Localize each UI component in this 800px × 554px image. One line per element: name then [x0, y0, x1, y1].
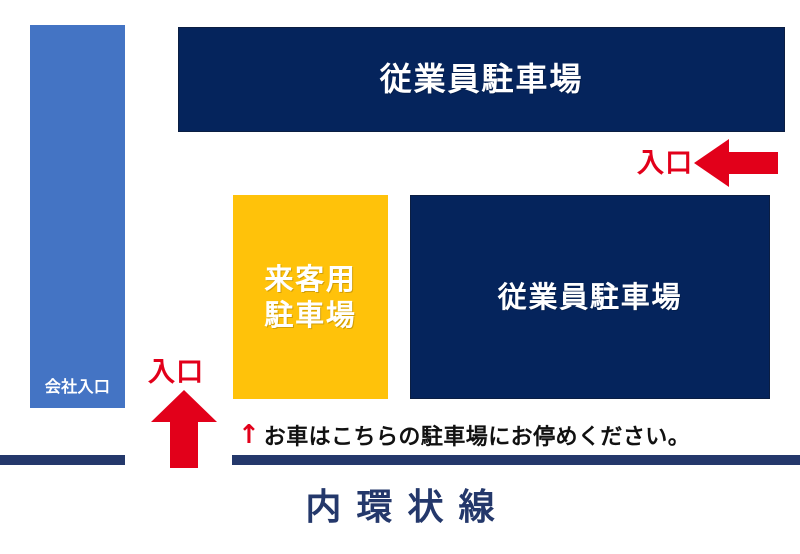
road-line-right	[232, 455, 800, 465]
road-name-label: 内環状線	[0, 478, 800, 530]
parking-map: 会社入口 従業員駐車場 来客用 駐車場 従業員駐車場 入口 入口 ↑ お車はこち…	[0, 0, 800, 554]
instruction-arrow-icon: ↑	[238, 422, 260, 448]
entrance-label-right: 入口	[637, 141, 693, 180]
employee-parking-lot-top: 従業員駐車場	[178, 27, 785, 132]
company-building-block: 会社入口	[30, 25, 125, 408]
road-line-left	[0, 455, 125, 465]
employee-parking-lot-right: 従業員駐車場	[410, 195, 770, 399]
company-entrance-label: 会社入口	[45, 378, 110, 396]
visitor-lot-label: 来客用 駐車場	[264, 261, 356, 334]
entrance-label-bottom: 入口	[148, 350, 204, 389]
visitor-parking-lot: 来客用 駐車場	[233, 195, 388, 399]
arrow-up-icon	[150, 390, 218, 468]
arrow-left-icon	[694, 138, 778, 188]
employee-lot-top-label: 従業員駐車場	[380, 62, 584, 98]
instruction-note: ↑ お車はこちらの駐車場にお停めください。	[238, 418, 758, 452]
employee-lot-right-label: 従業員駐車場	[498, 281, 682, 313]
instruction-text: お車はこちらの駐車場にお停めください。	[264, 419, 690, 451]
